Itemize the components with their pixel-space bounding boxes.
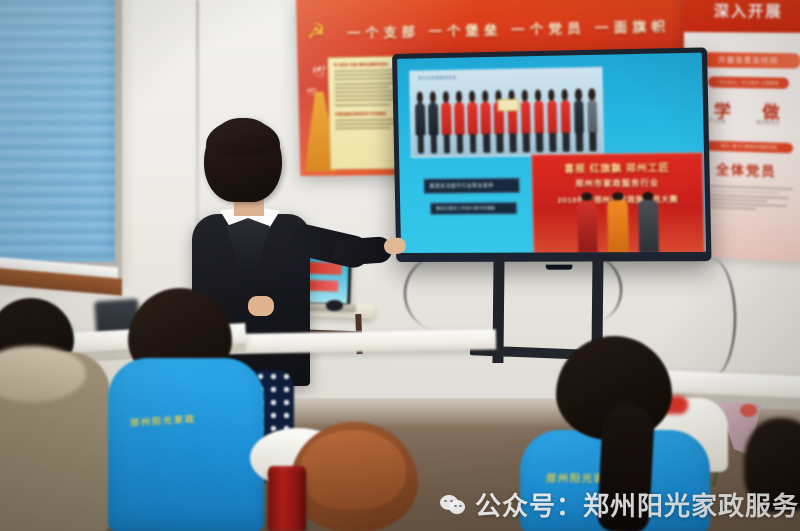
display-screen: 郑州市家政服务协会	[397, 53, 706, 253]
presenter-holding-hand	[248, 296, 274, 316]
display-cable-far-right	[686, 258, 736, 378]
poster-right-sub-right: 做合格党员	[756, 120, 779, 127]
dove-icon: 🕊	[312, 65, 326, 78]
presenter-forearm	[333, 236, 393, 266]
poster-right-section-bar: 开展背景及时间	[696, 52, 800, 69]
poster-right-pill-2: "两学一做"学习教育的对象和范围	[704, 141, 793, 154]
screenshot-scene: ☭ 一个支部 一个堡垒 一个党员 一面旗帜 🕊 🕊 学习贯彻"党建"精神主题教育…	[0, 0, 800, 531]
window-blind[interactable]	[0, 0, 115, 262]
stage-banner-line-2: 郑州市家政服务行业	[533, 177, 703, 190]
poster-right-pill-1: "不忘初心、牢记使命"主题教育	[708, 76, 789, 89]
attendee-2-volunteer-vest: 郑州阳光家政	[108, 358, 264, 531]
red-thermos-bottle[interactable]	[268, 470, 306, 531]
flower-bud-icon	[740, 404, 757, 417]
attendee-3-hair	[300, 430, 406, 510]
channel-watermark: 公众号：郑州阳光家政服务公司	[440, 486, 800, 523]
stage-people	[563, 191, 673, 253]
presentation-display[interactable]: 郑州市家政服务协会	[392, 47, 712, 262]
slide-bullet-1: 集团关注提升行业职业素养	[423, 178, 520, 194]
wechat-icon	[440, 494, 466, 516]
presenter-hair-fringe	[206, 120, 280, 156]
slide-bullet-2: 集团注重员工考核与晋升的激励	[430, 202, 517, 215]
stage-banner-line-1: 喜报 红旗飘 郑州工匠	[532, 159, 702, 175]
slide-photo-watermark: 郑州市家政服务协会	[418, 75, 457, 82]
certificate-icon	[498, 99, 519, 112]
poster-right-title: 深入开展	[684, 0, 800, 33]
poster-right-sub-left: 学习党章	[708, 119, 726, 125]
slide-top-photo: 郑州市家政服务协会	[409, 67, 603, 158]
watermark-text: 公众号：郑州阳光家政服务公司	[475, 486, 800, 523]
slide-bottom-photo: 喜报 红旗飘 郑州工匠 郑州市家政服务行业 2018年度郑州市家政服务员大赛	[531, 152, 705, 253]
attendee-2-vest-text: 郑州阳光家政	[130, 412, 197, 430]
